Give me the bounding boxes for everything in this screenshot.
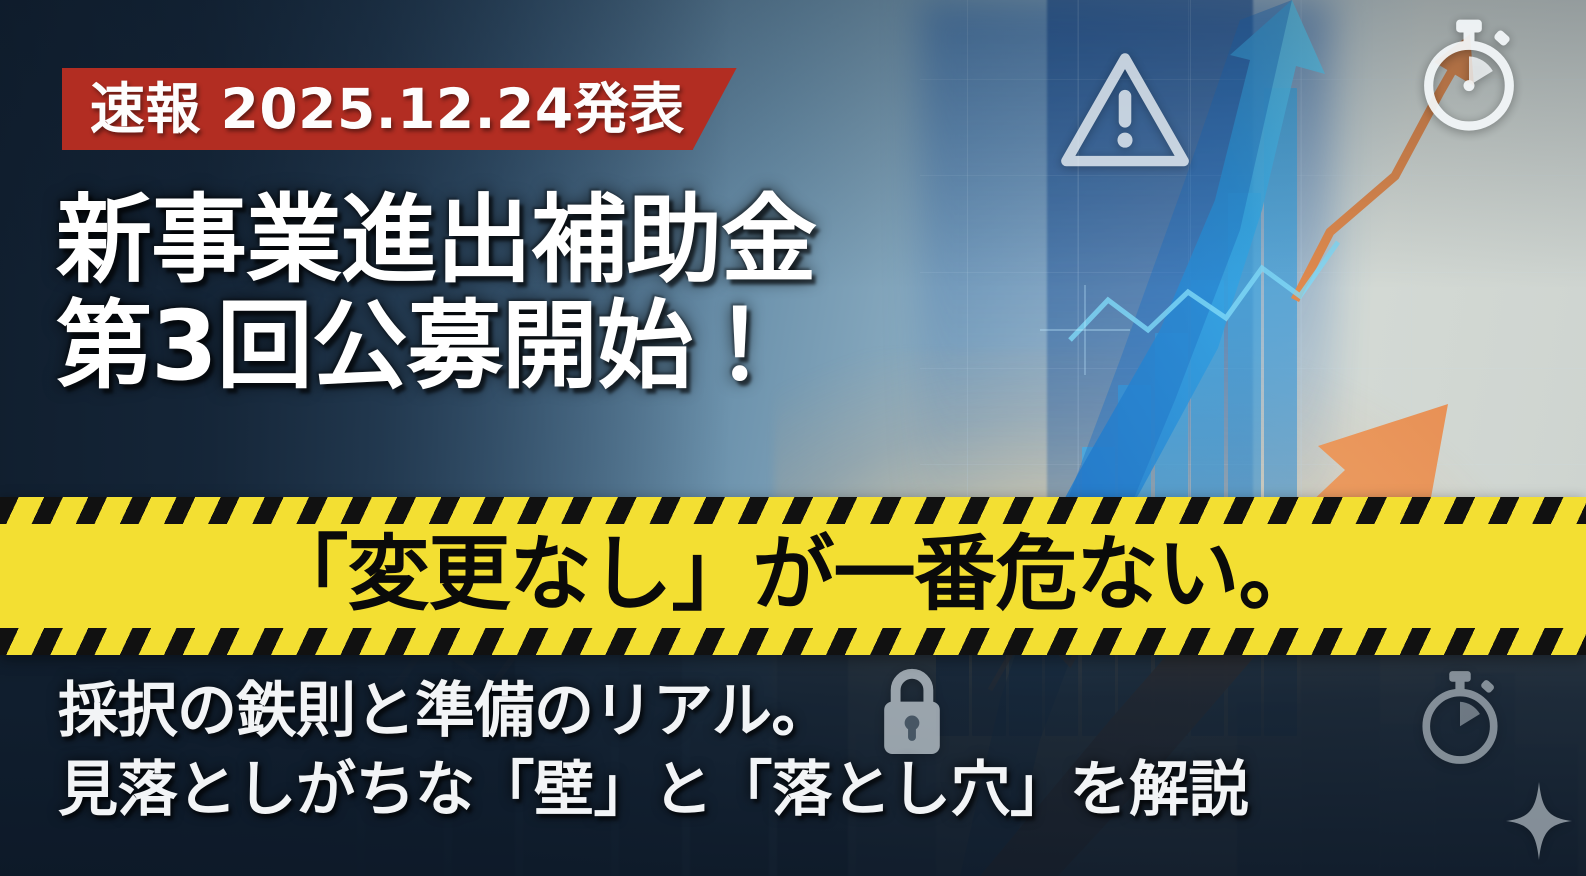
subtitle: 採択の鉄則と準備のリアル。 見落としがちな「壁」と「落とし穴」を解説 (58, 672, 1248, 830)
caution-banner: 「変更なし」が一番危ない。 (0, 497, 1586, 655)
title-line-2: 第3回公募開始！ (56, 294, 816, 400)
thumbnail-canvas: 速報 2025.12.24発表 新事業進出補助金 第3回公募開始！ 「変更なし」… (0, 0, 1586, 876)
title-line-1: 新事業進出補助金 (56, 188, 816, 294)
warning-triangle-icon (1058, 48, 1192, 172)
stopwatch-icon (1414, 668, 1506, 768)
subtitle-line-2: 見落としがちな「壁」と「落とし穴」を解説 (58, 751, 1248, 830)
caution-stripes-bottom (0, 628, 1586, 655)
stopwatch-icon (1414, 16, 1524, 136)
badge-label: 速報 2025.12.24発表 (90, 82, 685, 137)
breaking-news-badge: 速報 2025.12.24発表 (62, 68, 737, 150)
caution-stripes-top (0, 497, 1586, 524)
caution-banner-text: 「変更なし」が一番危ない。 (266, 534, 1319, 618)
page-title: 新事業進出補助金 第3回公募開始！ (56, 188, 816, 399)
subtitle-line-1: 採択の鉄則と準備のリアル。 (58, 672, 1248, 751)
sparkle-icon (1506, 782, 1572, 860)
